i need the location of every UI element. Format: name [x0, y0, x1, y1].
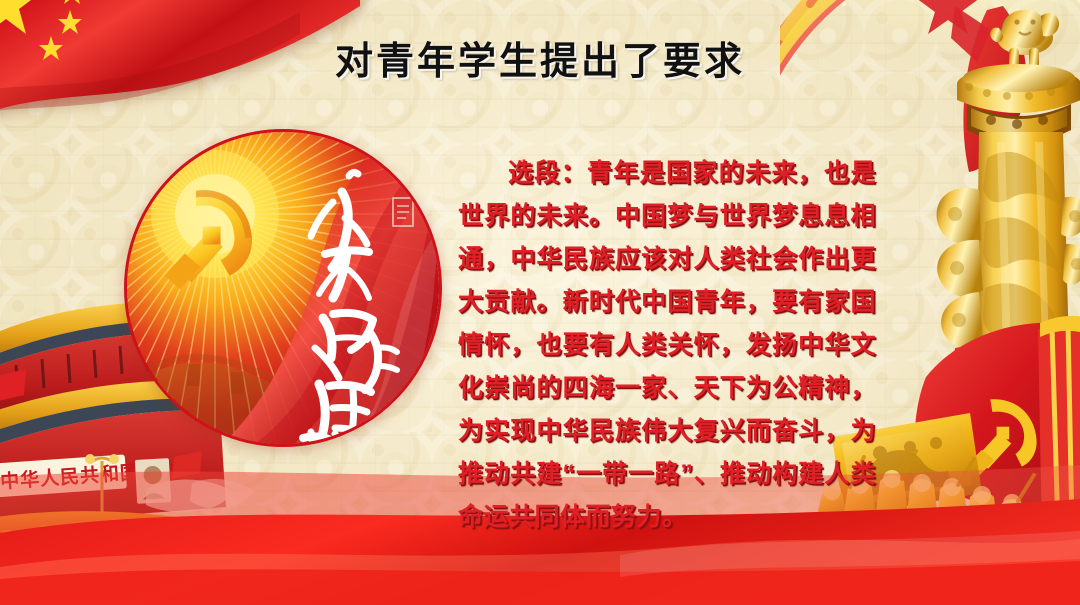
circular-image-artwork [127, 132, 439, 444]
circular-image-inner [127, 132, 439, 444]
page-title: 对青年学生提出了要求 [0, 30, 1080, 85]
body-paragraph: 选段：青年是国家的未来，也是世界的未来。中国梦与世界梦息息相通，中华民族应该对人… [458, 152, 876, 539]
circular-feature-image [124, 129, 442, 447]
slide-root: 中华人民共和国万岁 [0, 0, 1080, 605]
